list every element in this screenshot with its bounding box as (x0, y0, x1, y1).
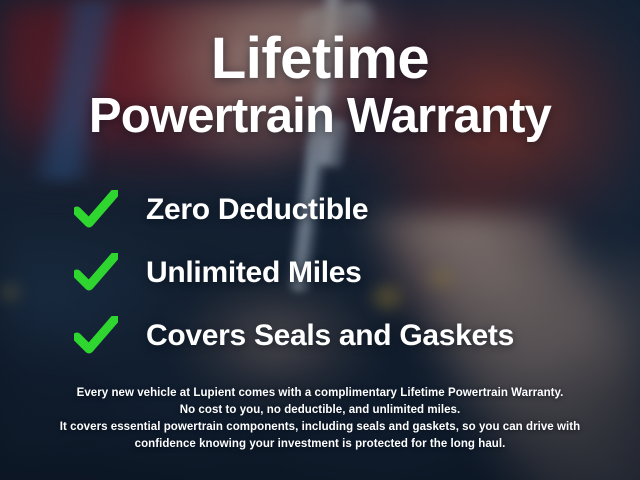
fineprint-line: No cost to you, no deductible, and unlim… (30, 402, 610, 419)
fineprint-line: Every new vehicle at Lupient comes with … (30, 385, 610, 402)
headline-line-2: Powertrain Warranty (0, 88, 640, 144)
lifetime-powertrain-warranty-banner: Lifetime Powertrain Warranty Zero Deduct… (0, 0, 640, 480)
benefit-label: Zero Deductible (146, 193, 368, 227)
benefits-list: Zero Deductible Unlimited Miles Covers S… (74, 178, 620, 367)
green-check-icon (74, 316, 118, 356)
benefit-item-zero-deductible: Zero Deductible (74, 178, 620, 241)
headline-line-1: Lifetime (0, 30, 640, 88)
fineprint-line: It covers essential powertrain component… (30, 419, 610, 436)
green-check-icon (74, 253, 118, 293)
green-check-icon (74, 190, 118, 230)
benefit-item-unlimited-miles: Unlimited Miles (74, 241, 620, 304)
fineprint-line: confidence knowing your investment is pr… (30, 436, 610, 453)
benefit-item-covers-seals-and-gaskets: Covers Seals and Gaskets (74, 304, 620, 367)
headline: Lifetime Powertrain Warranty (0, 30, 640, 144)
benefit-label: Covers Seals and Gaskets (146, 319, 514, 353)
fineprint-disclaimer: Every new vehicle at Lupient comes with … (30, 385, 610, 453)
benefit-label: Unlimited Miles (146, 256, 362, 290)
banner-content: Lifetime Powertrain Warranty Zero Deduct… (0, 0, 640, 480)
